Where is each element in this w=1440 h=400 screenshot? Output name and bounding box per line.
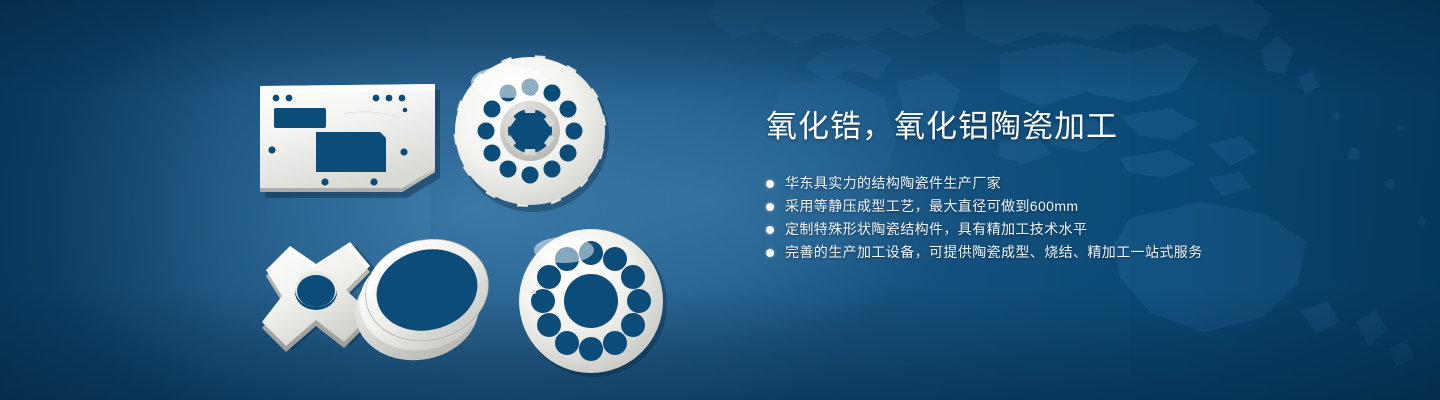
- ceramic-impeller-product-image: [447, 48, 613, 214]
- bullet-dot-icon: [766, 203, 774, 211]
- bullet-dot-icon: [766, 226, 774, 234]
- feature-text: 华东具实力的结构陶瓷件生产厂家: [785, 172, 1001, 195]
- ceramic-rings-product-image: [337, 226, 517, 371]
- list-item: 采用等静压成型工艺，最大直径可做到600mm: [766, 195, 1406, 218]
- promo-banner: 氧化锆，氧化铝陶瓷加工 华东具实力的结构陶瓷件生产厂家 采用等静压成型工艺，最大…: [0, 0, 1440, 400]
- feature-text: 定制特殊形状陶瓷结构件，具有精加工技术水平: [785, 218, 1087, 241]
- ceramic-plate-product-image: [252, 78, 442, 198]
- ceramic-disc-product-image: [512, 222, 672, 382]
- list-item: 定制特殊形状陶瓷结构件，具有精加工技术水平: [766, 218, 1406, 241]
- banner-text-block: 氧化锆，氧化铝陶瓷加工 华东具实力的结构陶瓷件生产厂家 采用等静压成型工艺，最大…: [766, 106, 1406, 264]
- feature-text: 采用等静压成型工艺，最大直径可做到600mm: [785, 195, 1078, 218]
- bullet-dot-icon: [766, 249, 774, 257]
- bullet-dot-icon: [766, 180, 774, 188]
- list-item: 完善的生产加工设备，可提供陶瓷成型、烧结、精加工一站式服务: [766, 241, 1406, 264]
- page-title: 氧化锆，氧化铝陶瓷加工: [766, 106, 1406, 148]
- list-item: 华东具实力的结构陶瓷件生产厂家: [766, 172, 1406, 195]
- product-image-group: [0, 0, 720, 400]
- feature-list: 华东具实力的结构陶瓷件生产厂家 采用等静压成型工艺，最大直径可做到600mm 定…: [766, 172, 1406, 264]
- feature-text: 完善的生产加工设备，可提供陶瓷成型、烧结、精加工一站式服务: [785, 241, 1203, 264]
